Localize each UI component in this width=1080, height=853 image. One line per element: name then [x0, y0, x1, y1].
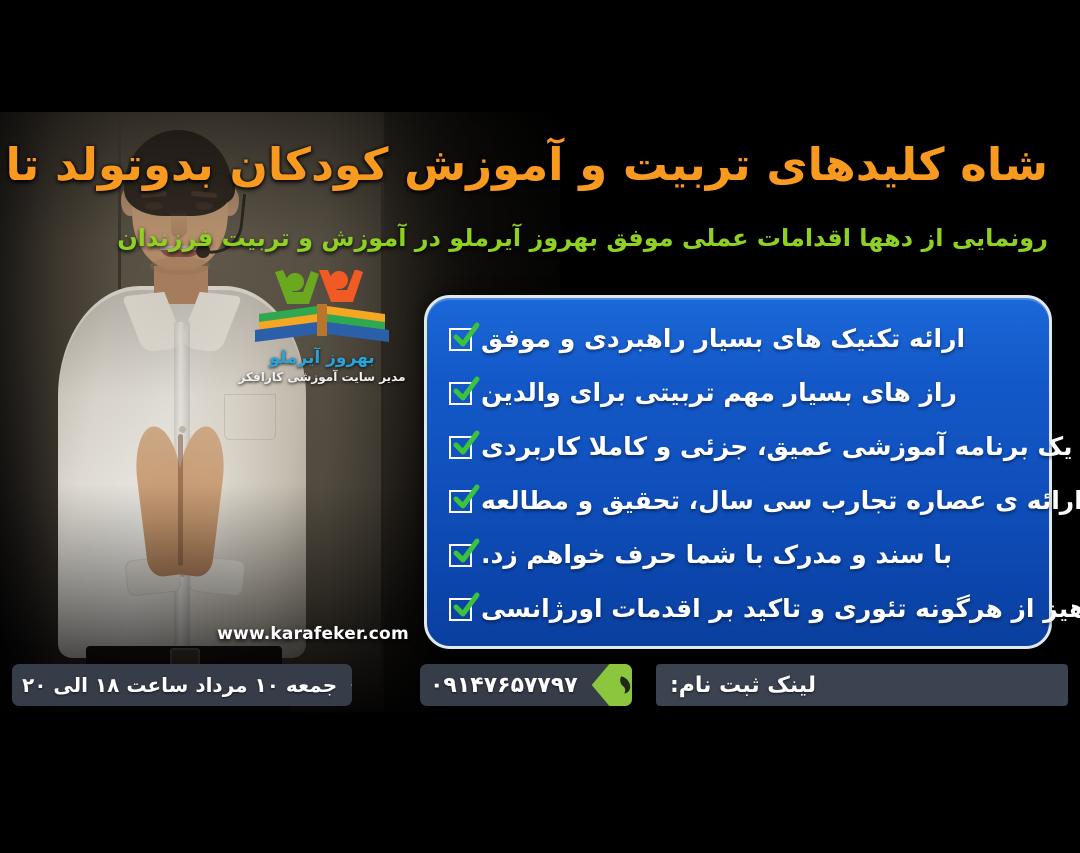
- feature-label: ارائه تکنیک های بسیار راهبردی و موفق: [481, 323, 965, 354]
- phone-badge[interactable]: ۰۹۱۴۷۶۵۷۷۹۷: [420, 664, 632, 706]
- content-band: شاه کلیدهای تربیت و آموزش کودکان بدوتولد…: [0, 112, 1080, 712]
- check-glyph: [453, 485, 479, 511]
- green-check-icon: [449, 598, 472, 621]
- feature-label: پرهیز از هرگونه تئوری و تاکید بر اقدمات …: [481, 593, 1080, 624]
- page-subtitle: رونمایی از دهها اقدامات عملی موفق بهروز …: [0, 224, 1064, 253]
- date-badge: جمعه ۱۰ مرداد ساعت ۱۸ الی ۲۰: [12, 664, 352, 706]
- page-title: شاه کلیدهای تربیت و آموزش کودکان بدوتولد…: [0, 140, 1064, 190]
- registration-link-value[interactable]: [816, 672, 1054, 698]
- feature-item: پرهیز از هرگونه تئوری و تاکید بر اقدمات …: [449, 593, 1027, 624]
- check-glyph: [453, 323, 479, 349]
- phone-number: ۰۹۱۴۷۶۵۷۷۹۷: [420, 673, 592, 698]
- phone-handset-glyph: [615, 674, 632, 696]
- green-check-icon: [449, 436, 472, 459]
- logo-role: مدیر سایت آموزشی کارافکر: [238, 370, 406, 384]
- feature-label: ارائه ی عصاره تجارب سی سال، تحقیق و مطال…: [481, 485, 1080, 516]
- feature-item: راز های بسیار مهم تربیتی برای والدین: [449, 377, 1027, 408]
- green-check-icon: [449, 490, 472, 513]
- feature-label: یک برنامه آموزشی عمیق، جزئی و کاملا کارب…: [481, 431, 1073, 462]
- green-check-icon: [449, 382, 472, 405]
- feature-item: با سند و مدرک با شما حرف خواهم زد.: [449, 539, 1027, 570]
- feature-label: راز های بسیار مهم تربیتی برای والدین: [481, 377, 957, 408]
- clock-icon: [351, 664, 352, 706]
- check-glyph: [453, 431, 479, 457]
- feature-item: ارائه ی عصاره تجارب سی سال، تحقیق و مطال…: [449, 485, 1027, 516]
- date-badge-label: جمعه ۱۰ مرداد ساعت ۱۸ الی ۲۰: [12, 673, 351, 697]
- registration-link-field[interactable]: لینک ثبت نام:: [656, 664, 1068, 706]
- check-glyph: [453, 593, 479, 619]
- registration-link-label: لینک ثبت نام:: [670, 673, 816, 698]
- logo-name: بهروز آیرملو: [238, 349, 406, 369]
- poster-root: شاه کلیدهای تربیت و آموزش کودکان بدوتولد…: [0, 0, 1080, 853]
- phone-icon: [592, 664, 632, 706]
- brand-logo: بهروز آیرملو مدیر سایت آموزشی کارافکر: [238, 270, 406, 384]
- website-url: www.karafeker.com: [208, 624, 418, 644]
- feature-item: یک برنامه آموزشی عمیق، جزئی و کاملا کارب…: [449, 431, 1027, 462]
- check-glyph: [453, 377, 479, 403]
- feature-item: ارائه تکنیک های بسیار راهبردی و موفق: [449, 323, 1027, 354]
- green-check-icon: [449, 544, 472, 567]
- book-and-figures-icon: [247, 270, 397, 346]
- green-check-icon: [449, 328, 472, 351]
- logo-mark-icon: [247, 270, 397, 346]
- bottom-bar: جمعه ۱۰ مرداد ساعت ۱۸ الی ۲۰ ۰۹۱۴۷۶۵۷۷۹۷: [0, 660, 1080, 712]
- feature-label: با سند و مدرک با شما حرف خواهم زد.: [481, 539, 952, 570]
- check-glyph: [453, 539, 479, 565]
- features-panel: ارائه تکنیک های بسیار راهبردی و موفق راز…: [424, 295, 1052, 649]
